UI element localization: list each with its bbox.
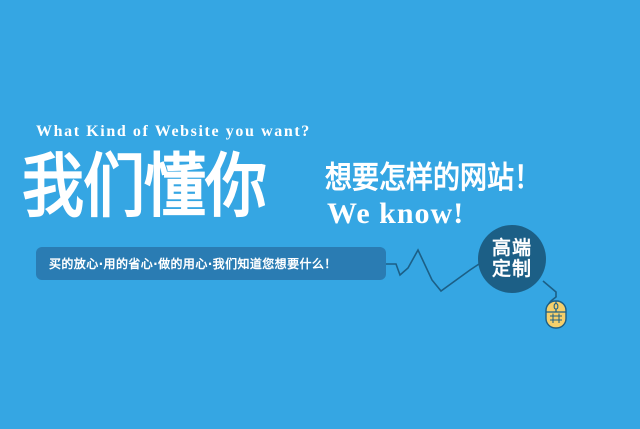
promo-banner: What Kind of Website you want? 我们懂你 想要怎样… (0, 0, 640, 429)
headline-secondary-en: We know! (327, 199, 464, 229)
subtitle-text: 买的放心·用的省心·做的用心·我们知道您想要什么！ (49, 258, 337, 270)
badge-line-1: 高端 (492, 238, 532, 259)
premium-custom-badge: 高端 定制 (478, 225, 546, 293)
badge-to-mouse-leader (543, 281, 556, 297)
zigzag-connector (386, 250, 479, 291)
page-title: 我们懂你 (22, 152, 266, 221)
eyebrow-tagline: What Kind of Website you want? (36, 124, 311, 140)
computer-mouse-icon (546, 301, 566, 328)
mouse-cable (548, 297, 556, 306)
subtitle-bar: 买的放心·用的省心·做的用心·我们知道您想要什么！ (36, 247, 386, 280)
badge-line-2: 定制 (492, 259, 532, 280)
headline-secondary-cn: 想要怎样的网站！ (325, 163, 541, 194)
